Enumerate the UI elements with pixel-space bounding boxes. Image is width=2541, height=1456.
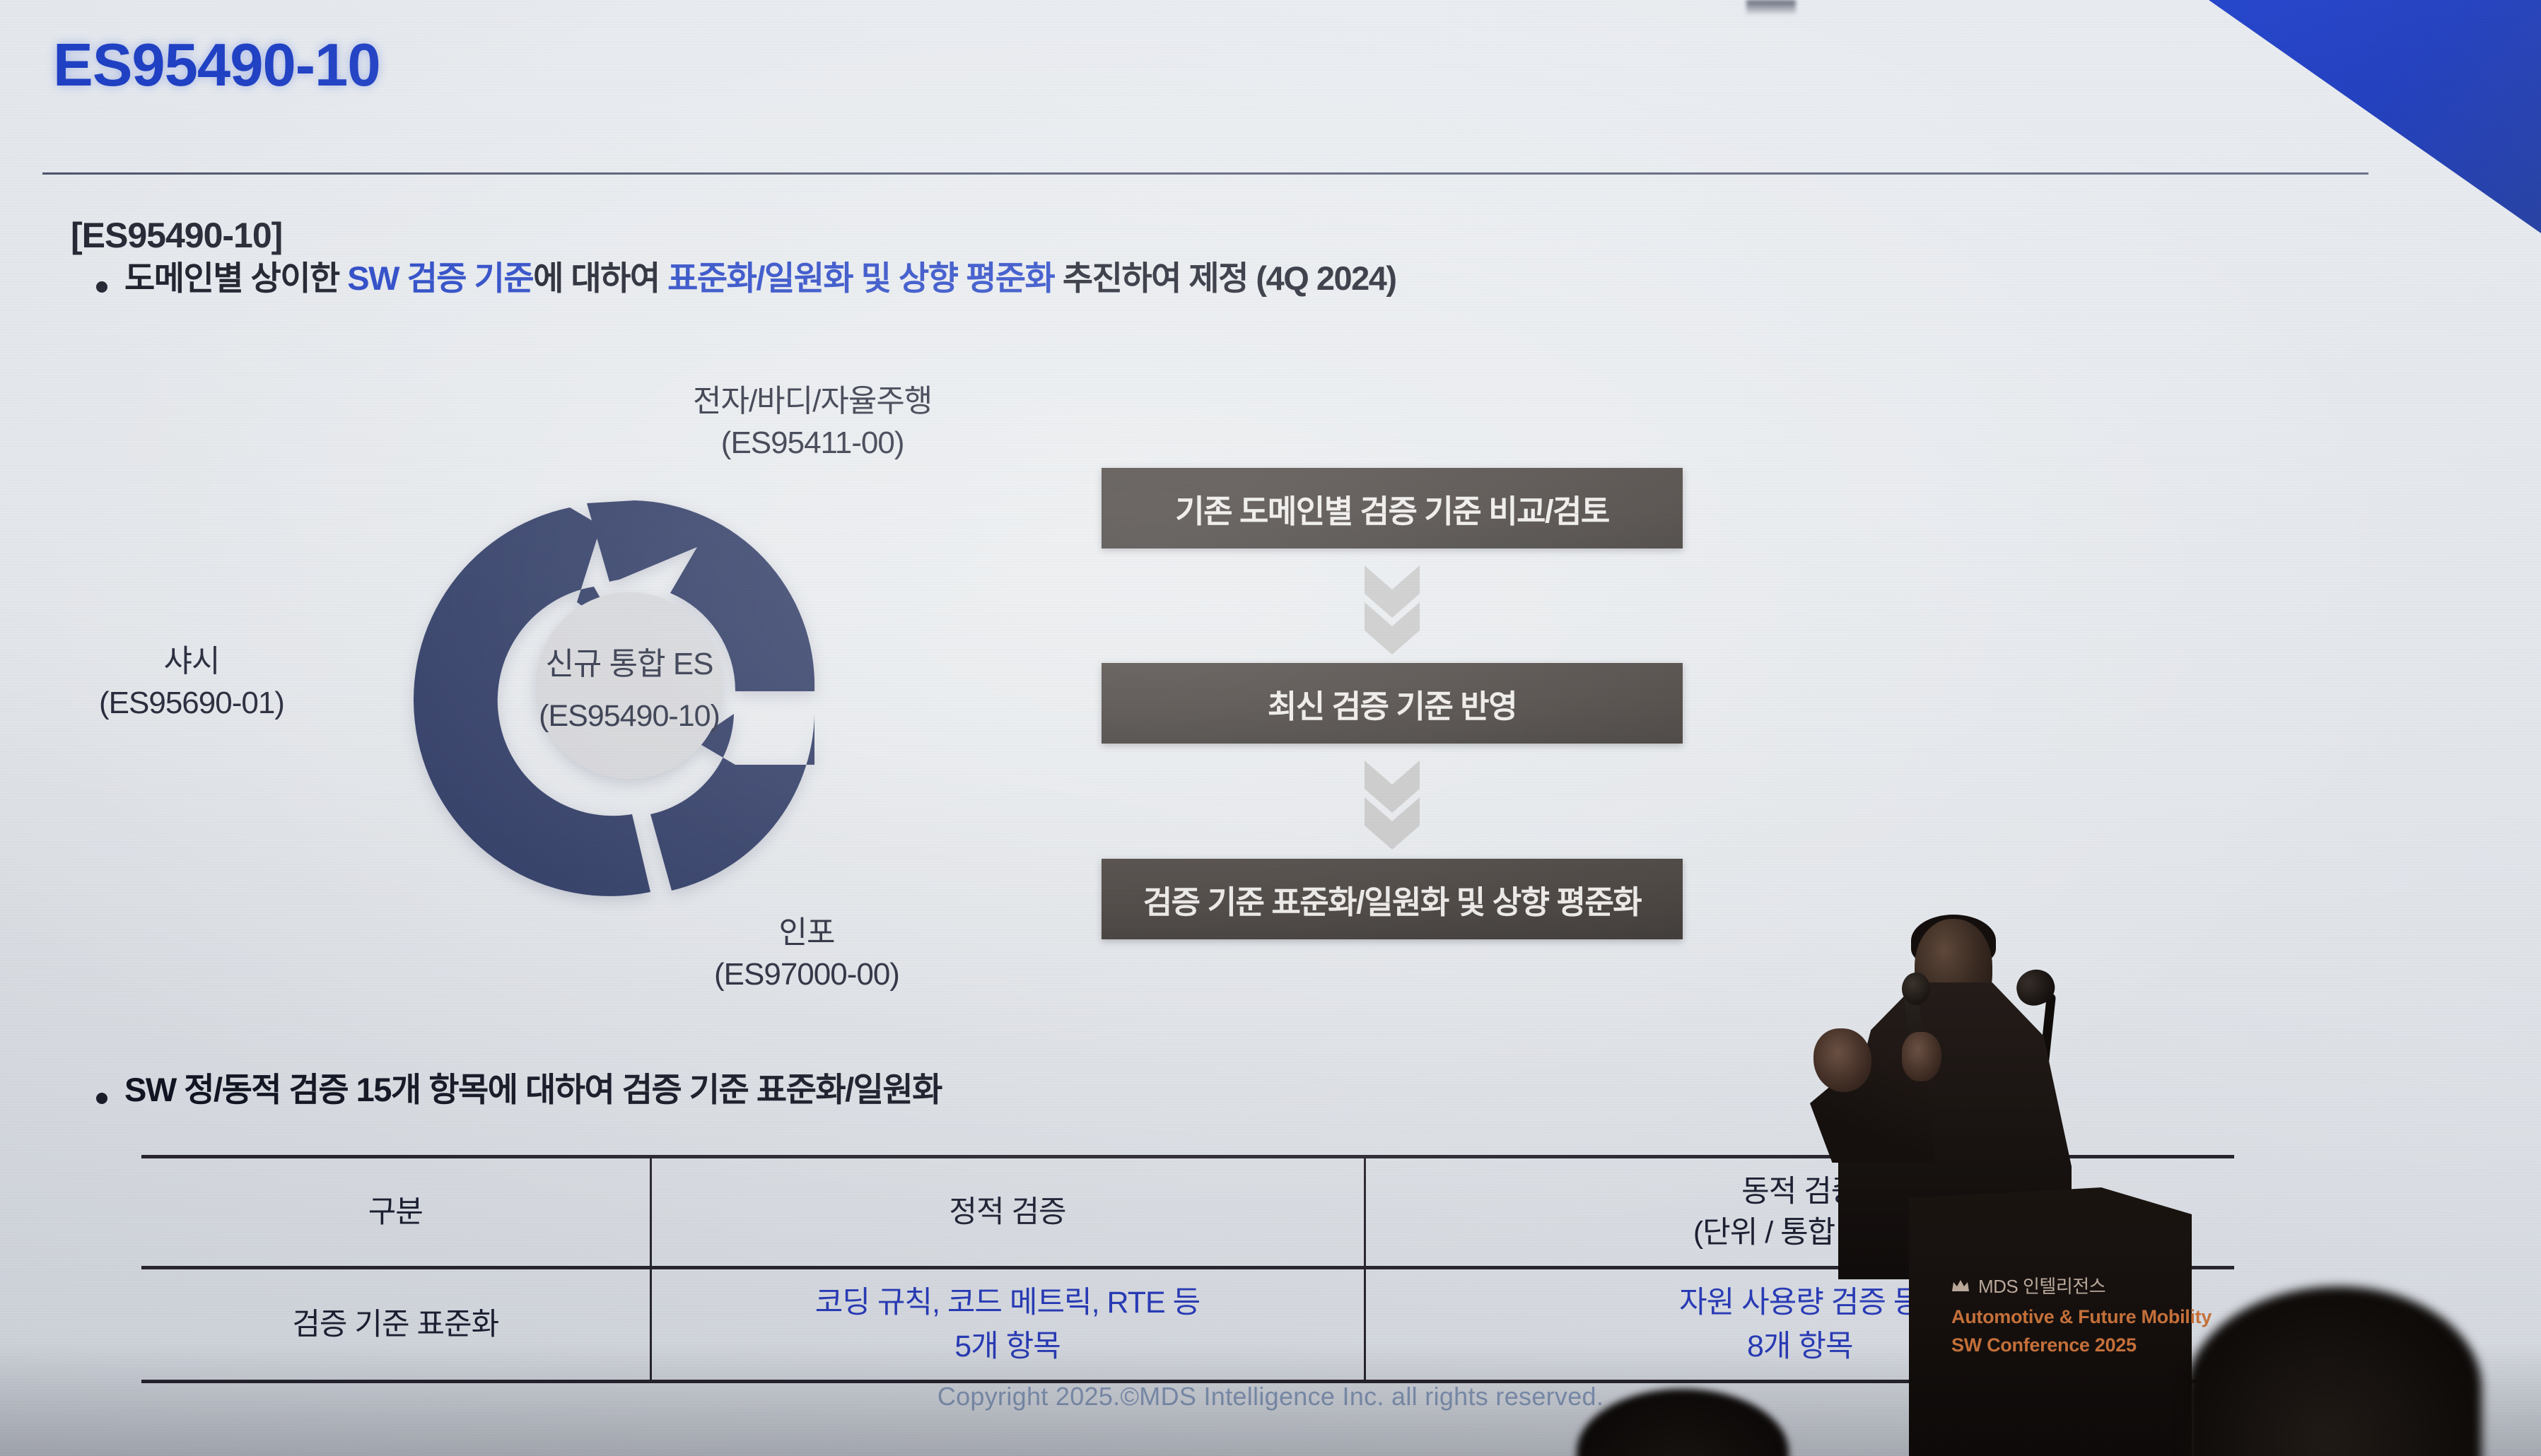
table-header-2-line1: 정적 검증: [652, 1192, 1364, 1233]
table-header-1-line1: 구분: [141, 1192, 650, 1233]
donut-label-bottom-name: 인포: [714, 912, 899, 953]
flow-step-2: 최신 검증 기준 반영: [1102, 663, 1683, 744]
table-row: 검증 기준 표준화 코딩 규칙, 코드 메트릭, RTE 등 5개 항목 자원 …: [141, 1268, 2234, 1382]
table-header-3-line2: (단위 / 통합 검증): [1366, 1212, 2235, 1253]
verification-criteria-table-wrap: 구분 정적 검증 동적 검증 (단위 / 통합 검증) 검증 기준 표준화: [141, 1155, 2234, 1383]
donut-label-bottom: 인포 (ES97000-00): [714, 912, 899, 996]
donut-label-left-code: (ES95690-01): [99, 682, 284, 724]
bullet-dot-icon: [96, 281, 107, 293]
flow-step-3: 검증 기준 표준화/일원화 및 상향 평준화: [1102, 859, 1683, 939]
page-title: ES95490-10: [53, 31, 380, 100]
table-header-3-line1: 동적 검증: [1366, 1171, 2235, 1212]
table-header-row: 구분 정적 검증 동적 검증 (단위 / 통합 검증): [141, 1157, 2234, 1268]
flow-step-1: 기존 도메인별 검증 기준 비교/검토: [1102, 468, 1683, 548]
donut-label-left-name: 샤시: [99, 640, 284, 682]
donut-label-top: 전자/바디/자율주행 (ES95411-00): [693, 380, 932, 464]
bullet-dot-icon: [96, 1093, 107, 1104]
bullet-text-1: 도메인별 상이한 SW 검증 기준에 대하여 표준화/일원화 및 상향 평준화 …: [124, 262, 1396, 295]
donut-diagram: 신규 통합 ES (ES95490-10): [396, 438, 863, 933]
projected-slide: ES95490-10 [ES95490-10] 도메인별 상이한 SW 검증 기…: [0, 0, 2541, 1456]
verification-criteria-table: 구분 정적 검증 동적 검증 (단위 / 통합 검증) 검증 기준 표준화: [141, 1155, 2234, 1383]
title-divider: [42, 172, 2368, 175]
section-label: [ES95490-10]: [71, 215, 282, 256]
table-header-cell-1: 구분: [141, 1157, 650, 1268]
conference-photo-stage: ES95490-10 [ES95490-10] 도메인별 상이한 SW 검증 기…: [0, 0, 2541, 1456]
donut-center-circle: [536, 592, 723, 779]
table-cell-dynamic: 자원 사용량 검증 등 8개 항목: [1365, 1268, 2234, 1382]
table-header-cell-3: 동적 검증 (단위 / 통합 검증): [1365, 1157, 2234, 1268]
bullet-item-1: 도메인별 상이한 SW 검증 기준에 대하여 표준화/일원화 및 상향 평준화 …: [96, 262, 1396, 295]
table-cell-static-line2: 5개 항목: [652, 1325, 1364, 1368]
donut-label-bottom-code: (ES97000-00): [714, 953, 899, 995]
copyright-footer: Copyright 2025.©MDS Intelligence Inc. al…: [0, 1382, 2541, 1411]
table-cell-dynamic-line2: 8개 항목: [1366, 1325, 2235, 1368]
chevron-down-icon: [1365, 761, 1420, 850]
table-header-cell-2: 정적 검증: [650, 1157, 1365, 1268]
table-cell-static: 코딩 규칙, 코드 메트릭, RTE 등 5개 항목: [650, 1268, 1365, 1382]
top-edge-artifact: [1746, 0, 1796, 16]
bullet-text-2: SW 정/동적 검증 15개 항목에 대하여 검증 기준 표준화/일원화: [124, 1073, 942, 1106]
corner-triangle-decoration: [2209, 0, 2541, 233]
bullet-item-2: SW 정/동적 검증 15개 항목에 대하여 검증 기준 표준화/일원화: [96, 1073, 942, 1106]
donut-label-top-name: 전자/바디/자율주행: [693, 380, 932, 422]
table-cell-dynamic-line1: 자원 사용량 검증 등: [1366, 1281, 2235, 1325]
table-cell-static-line1: 코딩 규칙, 코드 메트릭, RTE 등: [652, 1281, 1364, 1325]
donut-label-left: 샤시 (ES95690-01): [99, 640, 284, 724]
donut-svg: [396, 438, 863, 933]
chevron-down-icon: [1365, 565, 1420, 654]
donut-label-top-code: (ES95411-00): [693, 422, 932, 464]
table-row-label: 검증 기준 표준화: [141, 1268, 650, 1382]
